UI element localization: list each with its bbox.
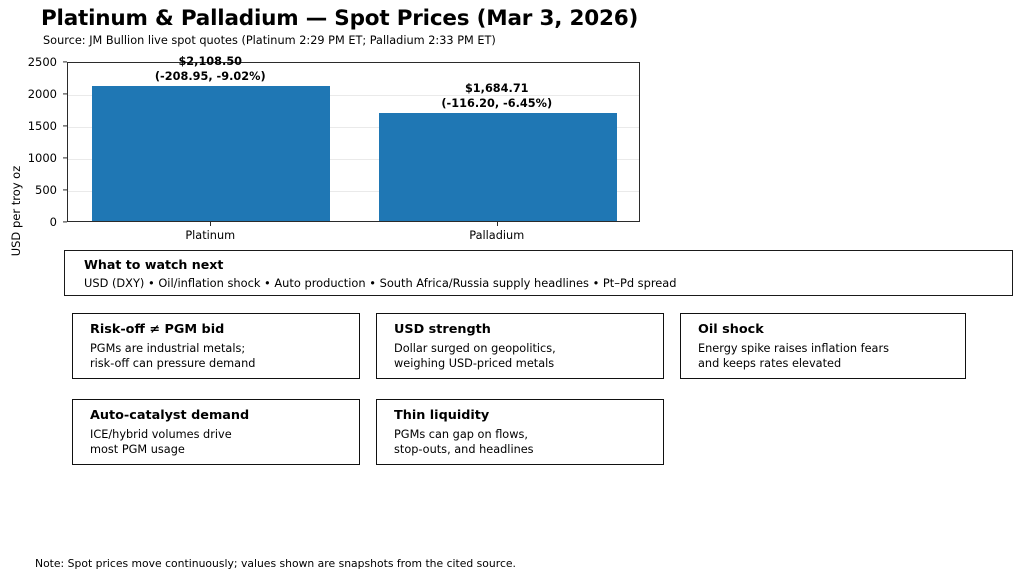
y-axis-tick-label: 2000 [28, 87, 57, 101]
insight-card-title: Oil shock [698, 322, 764, 337]
x-axis-tick-mark [210, 222, 211, 226]
insight-card: Thin liquidityPGMs can gap on flows, sto… [376, 399, 664, 465]
bar-annotation-platinum: $2,108.50(-208.95, -9.02%) [155, 55, 266, 84]
watch-banner-body: USD (DXY) • Oil/inflation shock • Auto p… [84, 276, 676, 290]
insight-card-body: Dollar surged on geopolitics, weighing U… [394, 342, 556, 371]
y-axis: USD per troy oz 05001000150020002500 [0, 62, 67, 222]
bars-layer [68, 63, 639, 221]
bar-platinum [92, 86, 330, 221]
insight-card-title: Auto-catalyst demand [90, 408, 249, 423]
spot-price-bar-chart: USD per troy oz 05001000150020002500 Pla… [0, 0, 1024, 250]
bar-annotation-palladium: $1,684.71(-116.20, -6.45%) [441, 82, 552, 111]
insight-card-body: PGMs can gap on flows, stop-outs, and he… [394, 428, 534, 457]
plot-area [67, 62, 640, 222]
x-axis-tick-label: Palladium [469, 229, 524, 242]
y-axis-tick-label: 2500 [28, 55, 57, 69]
insight-card-title: USD strength [394, 322, 491, 337]
bar-value-label: $1,684.71 [441, 82, 552, 97]
y-axis-tick-label: 1000 [28, 151, 57, 165]
y-axis-label: USD per troy oz [9, 151, 23, 271]
insight-card: Risk-off ≠ PGM bidPGMs are industrial me… [72, 313, 360, 379]
insight-card-body: Energy spike raises inflation fears and … [698, 342, 889, 371]
bar-change-label: (-208.95, -9.02%) [155, 70, 266, 85]
what-to-watch-banner: What to watch next USD (DXY) • Oil/infla… [64, 250, 1013, 296]
footer-note: Note: Spot prices move continuously; val… [35, 557, 516, 570]
y-axis-tick-label: 500 [35, 183, 57, 197]
insight-card: USD strengthDollar surged on geopolitics… [376, 313, 664, 379]
bar-change-label: (-116.20, -6.45%) [441, 97, 552, 112]
watch-banner-title: What to watch next [84, 257, 223, 272]
insight-card-title: Risk-off ≠ PGM bid [90, 322, 224, 337]
insight-card: Auto-catalyst demandICE/hybrid volumes d… [72, 399, 360, 465]
y-axis-tick-label: 1500 [28, 119, 57, 133]
bar-value-label: $2,108.50 [155, 55, 266, 70]
y-axis-tick-label: 0 [50, 215, 57, 229]
insight-card-title: Thin liquidity [394, 408, 489, 423]
x-axis-tick-label: Platinum [185, 229, 235, 242]
insight-card-body: ICE/hybrid volumes drive most PGM usage [90, 428, 232, 457]
insight-card: Oil shockEnergy spike raises inflation f… [680, 313, 966, 379]
x-axis-tick-mark [497, 222, 498, 226]
insight-card-body: PGMs are industrial metals; risk-off can… [90, 342, 255, 371]
bar-palladium [379, 113, 617, 221]
